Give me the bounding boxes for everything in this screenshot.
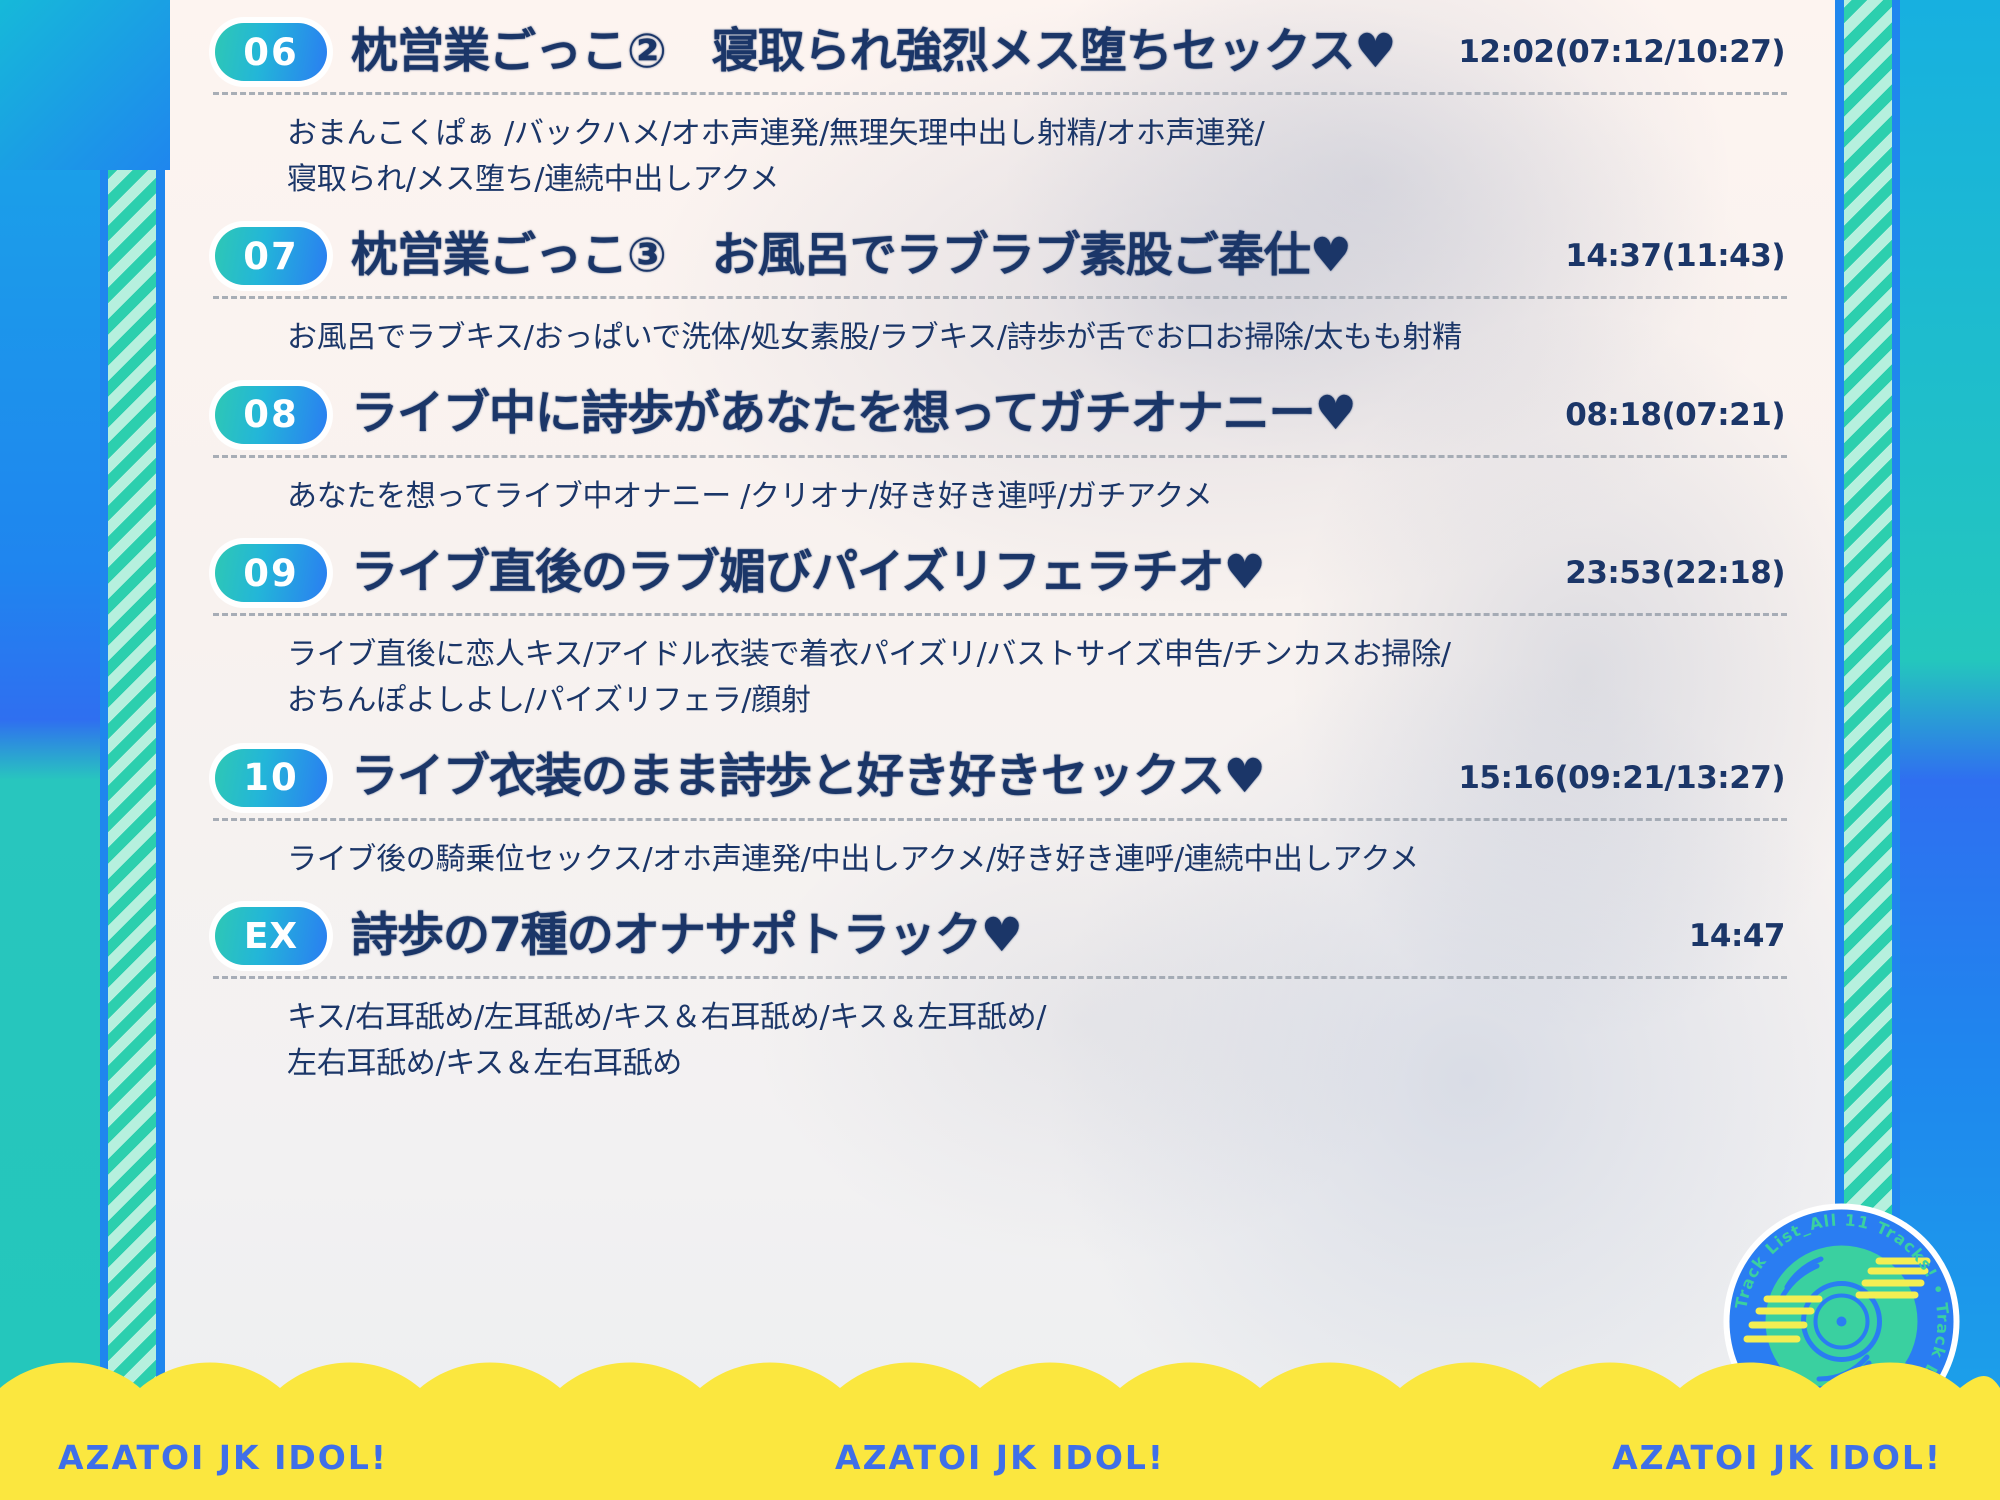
track-row: EX 詩歩の7種のオナサポトラック♥ 14:47 キス/右耳舐め/左耳舐め/キス…: [209, 898, 1791, 1102]
track-header: EX 詩歩の7種のオナサポトラック♥ 14:47: [209, 898, 1791, 974]
frame-rule-left-inner: [156, 0, 165, 1500]
track-header: 06 枕営業ごっこ② 寝取られ強烈メス堕ちセックス♥ 12:02(07:12/1…: [209, 14, 1791, 90]
tracklist-panel: 06 枕営業ごっこ② 寝取られ強烈メス堕ちセックス♥ 12:02(07:12/1…: [165, 0, 1835, 1500]
track-title: ライブ中に詩歩があなたを想ってガチオナニー♥: [351, 388, 1523, 441]
track-description: ライブ後の騎乗位セックス/オホ声連発/中出しアクメ/好き好き連呼/連続中出しアク…: [209, 821, 1791, 899]
track-divider: [213, 818, 1787, 821]
track-description: ライブ直後に恋人キス/アイドル衣装で着衣パイズリ/バストサイズ申告/チンカスお掃…: [209, 616, 1791, 739]
track-description-line: ライブ後の騎乗位セックス/オホ声連発/中出しアクメ/好き好き連呼/連続中出しアク…: [287, 837, 1785, 883]
track-description: あなたを想ってライブ中オナニー /クリオナ/好き好き連呼/ガチアクメ: [209, 458, 1791, 536]
track-duration: 14:47: [1671, 918, 1785, 954]
footer-label-center: AZATOI JK IDOL!: [835, 1438, 1165, 1477]
track-row: 08 ライブ中に詩歩があなたを想ってガチオナニー♥ 08:18(07:21) あ…: [209, 377, 1791, 536]
track-description-line: 寝取られ/メス堕ち/連続中出しアクメ: [287, 157, 1785, 203]
track-duration: 14:37(11:43): [1547, 238, 1785, 274]
corner-accent-top-left: [0, 0, 170, 170]
footer-wave-decoration: [0, 1362, 2000, 1408]
track-divider: [213, 455, 1787, 458]
track-divider: [213, 613, 1787, 616]
track-divider: [213, 976, 1787, 979]
track-description-line: ライブ直後に恋人キス/アイドル衣装で着衣パイズリ/バストサイズ申告/チンカスお掃…: [287, 632, 1785, 678]
track-row: 06 枕営業ごっこ② 寝取られ強烈メス堕ちセックス♥ 12:02(07:12/1…: [209, 14, 1791, 218]
track-header: 10 ライブ衣装のまま詩歩と好き好きセックス♥ 15:16(09:21/13:2…: [209, 740, 1791, 816]
track-number-badge: 09: [215, 544, 327, 602]
track-description-line: キス/右耳舐め/左耳舐め/キス＆右耳舐め/キス＆左耳舐め/: [287, 995, 1785, 1041]
track-header: 07 枕営業ごっこ③ お風呂でラブラブ素股ご奉仕♥ 14:37(11:43): [209, 218, 1791, 294]
track-duration: 08:18(07:21): [1547, 397, 1785, 433]
track-duration: 23:53(22:18): [1547, 555, 1785, 591]
track-description-line: おちんぽよしよし/パイズリフェラ/顔射: [287, 678, 1785, 724]
track-description: お風呂でラブキス/おっぱいで洗体/処女素股/ラブキス/詩歩が舌でお口お掃除/太も…: [209, 299, 1791, 377]
frame-stripe-left: [108, 0, 156, 1500]
track-divider: [213, 92, 1787, 95]
track-title: ライブ直後のラブ媚びパイズリフェラチオ♥: [351, 547, 1523, 600]
footer-label-right: AZATOI JK IDOL!: [1612, 1438, 1942, 1477]
track-number-badge: EX: [215, 907, 327, 965]
track-title: ライブ衣装のまま詩歩と好き好きセックス♥: [351, 751, 1416, 804]
track-title: 枕営業ごっこ② 寝取られ強烈メス堕ちセックス♥: [351, 26, 1416, 79]
tracklist: 06 枕営業ごっこ② 寝取られ強烈メス堕ちセックス♥ 12:02(07:12/1…: [165, 0, 1835, 1102]
track-number-badge: 10: [215, 749, 327, 807]
track-description-line: お風呂でラブキス/おっぱいで洗体/処女素股/ラブキス/詩歩が舌でお口お掃除/太も…: [287, 315, 1785, 361]
track-duration: 12:02(07:12/10:27): [1440, 34, 1785, 70]
track-title: 詩歩の7種のオナサポトラック♥: [351, 910, 1647, 963]
track-duration: 15:16(09:21/13:27): [1440, 760, 1785, 796]
track-header: 08 ライブ中に詩歩があなたを想ってガチオナニー♥ 08:18(07:21): [209, 377, 1791, 453]
footer-labels: AZATOI JK IDOL! AZATOI JK IDOL! AZATOI J…: [0, 1408, 2000, 1500]
track-description: おまんこくぱぁ /バックハメ/オホ声連発/無理矢理中出し射精/オホ声連発/ 寝取…: [209, 95, 1791, 218]
track-description-line: おまんこくぱぁ /バックハメ/オホ声連発/無理矢理中出し射精/オホ声連発/: [287, 111, 1785, 157]
track-title: 枕営業ごっこ③ お風呂でラブラブ素股ご奉仕♥: [351, 230, 1523, 283]
track-row: 10 ライブ衣装のまま詩歩と好き好きセックス♥ 15:16(09:21/13:2…: [209, 740, 1791, 899]
track-divider: [213, 296, 1787, 299]
track-description-line: あなたを想ってライブ中オナニー /クリオナ/好き好き連呼/ガチアクメ: [287, 474, 1785, 520]
track-row: 09 ライブ直後のラブ媚びパイズリフェラチオ♥ 23:53(22:18) ライブ…: [209, 535, 1791, 739]
track-row: 07 枕営業ごっこ③ お風呂でラブラブ素股ご奉仕♥ 14:37(11:43) お…: [209, 218, 1791, 377]
track-number-badge: 08: [215, 386, 327, 444]
track-description-line: 左右耳舐め/キス＆左右耳舐め: [287, 1041, 1785, 1087]
track-number-badge: 06: [215, 23, 327, 81]
track-description: キス/右耳舐め/左耳舐め/キス＆右耳舐め/キス＆左耳舐め/ 左右耳舐め/キス＆左…: [209, 979, 1791, 1102]
track-header: 09 ライブ直後のラブ媚びパイズリフェラチオ♥ 23:53(22:18): [209, 535, 1791, 611]
footer-label-left: AZATOI JK IDOL!: [58, 1438, 388, 1477]
track-number-badge: 07: [215, 227, 327, 285]
footer-bar: AZATOI JK IDOL! AZATOI JK IDOL! AZATOI J…: [0, 1408, 2000, 1500]
